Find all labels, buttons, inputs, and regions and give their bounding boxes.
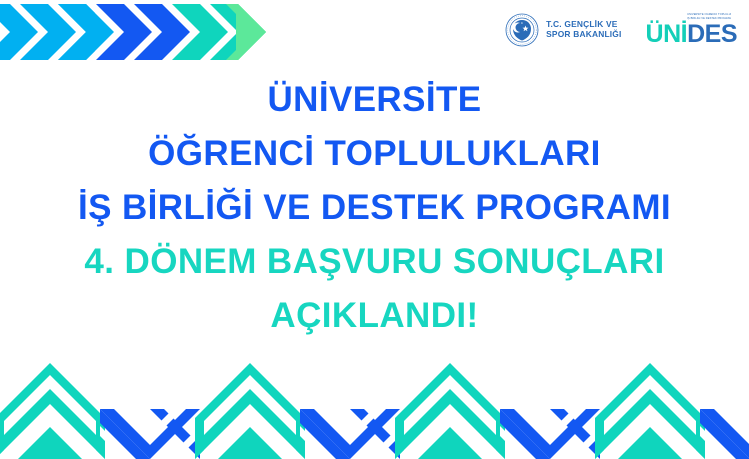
ministry-logo: C T.C. GENÇLİK VE SPOR BAKANLIĞI (505, 13, 621, 47)
top-chevron-banner (0, 4, 266, 60)
headline-line-2: ÖĞRENCİ TOPLULUKLARI (0, 136, 749, 171)
unides-microtext-line-1: ÜNİVERSİTE ÖĞRENCİ TOPLULUKLARI (687, 13, 731, 17)
bottom-chevron-svg (0, 363, 749, 459)
headline-line-5: AÇIKLANDI! (0, 298, 749, 333)
headline-line-1: ÜNİVERSİTE (0, 82, 749, 117)
poster-canvas: C T.C. GENÇLİK VE SPOR BAKANLIĞI ÜNİ ÜNİ… (0, 0, 749, 459)
headline-line-4: 4. DÖNEM BAŞVURU SONUÇLARI (0, 244, 749, 279)
unides-des-text: DES (687, 22, 737, 47)
unides-logo: ÜNİ ÜNİVERSİTE ÖĞRENCİ TOPLULUKLARI İŞ B… (646, 13, 737, 47)
ministry-line-2: SPOR BAKANLIĞI (546, 30, 621, 40)
headline-block: ÜNİVERSİTE ÖĞRENCİ TOPLULUKLARI İŞ BİRLİ… (0, 82, 749, 333)
unides-uni-text: ÜNİ (646, 22, 688, 47)
ministry-logo-text: T.C. GENÇLİK VE SPOR BAKANLIĞI (546, 20, 621, 40)
logo-row: C T.C. GENÇLİK VE SPOR BAKANLIĞI ÜNİ ÜNİ… (505, 13, 737, 47)
bottom-chevron-band (0, 363, 749, 459)
ministry-seal-icon: C (505, 13, 539, 47)
headline-line-3: İŞ BİRLİĞİ VE DESTEK PROGRAMI (0, 190, 749, 225)
unides-right-group: ÜNİVERSİTE ÖĞRENCİ TOPLULUKLARI İŞ BİRLİ… (687, 13, 737, 48)
